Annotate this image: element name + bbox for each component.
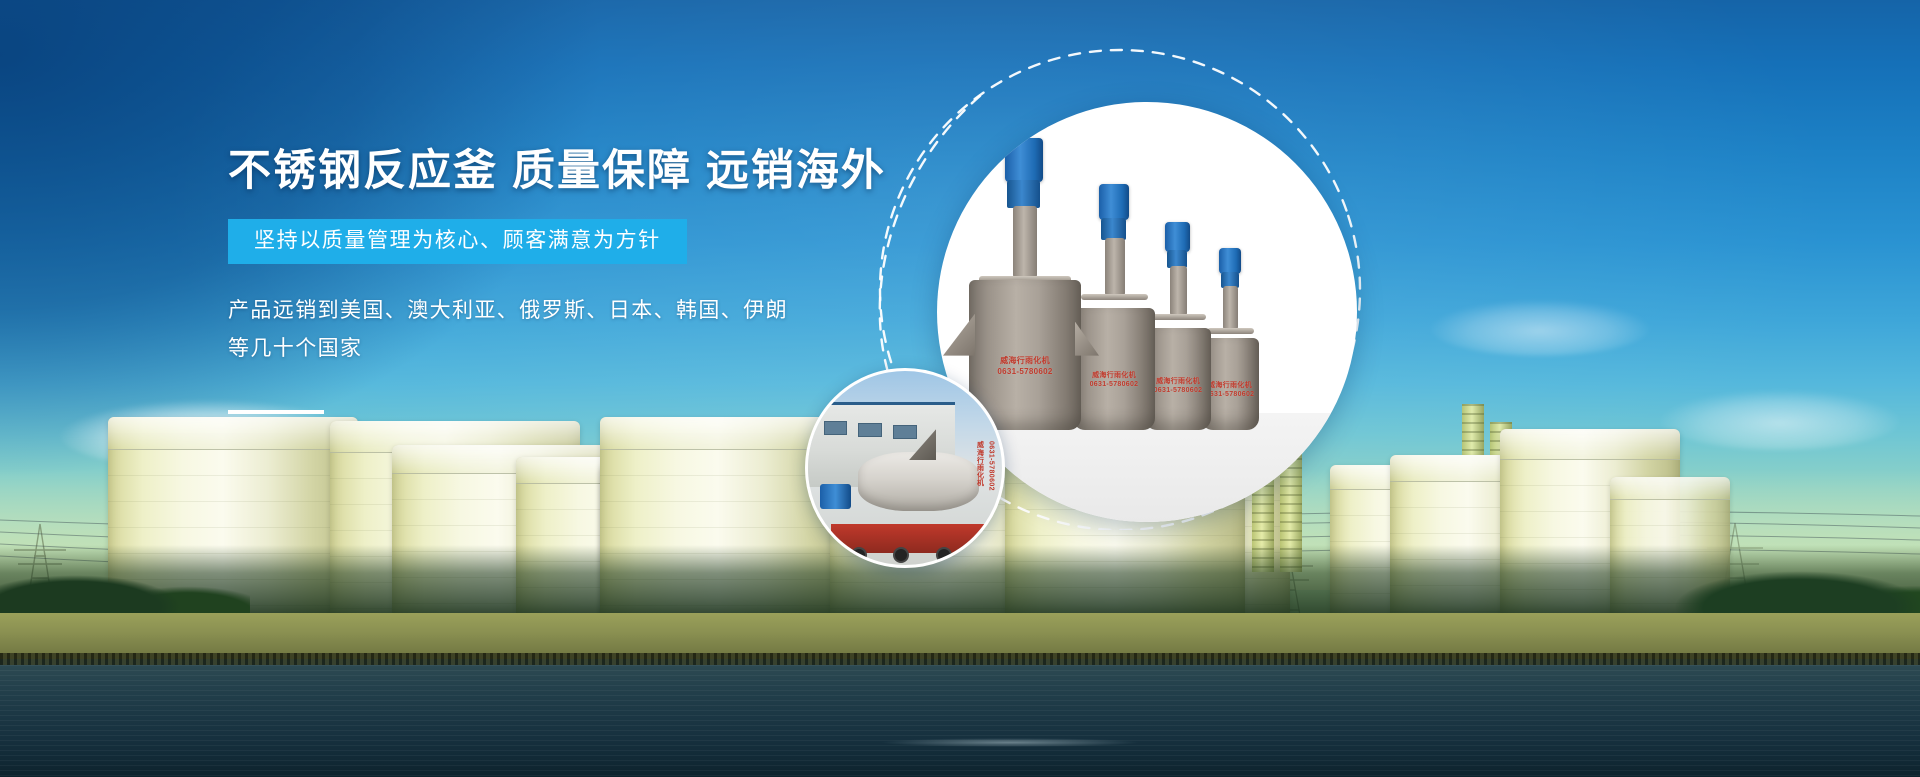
motor-icon (1005, 138, 1043, 182)
motor-icon (820, 484, 851, 509)
tank-brand-text: 威海行雨化机 (975, 441, 985, 487)
highlight-slogan-bar: 坚持以质量管理为核心、顾客满意为方针 (228, 219, 687, 264)
vessel-brand-text: 威海行雨化机 0631-5780602 (969, 356, 1081, 378)
vessel-body (969, 280, 1081, 430)
banner-root: 威海行雨化机 0631-5780602 威海行雨化机 0631-5780602 (0, 0, 1920, 777)
motor-gearbox-icon (1167, 250, 1187, 268)
reactor-vessel-primary: 威海行雨化机 0631-5780602 (969, 138, 1081, 430)
cloud-4 (1660, 390, 1900, 450)
cloud-3 (1430, 300, 1650, 356)
motor-gearbox-icon (1007, 180, 1040, 208)
tank-phone-text: 0631-5780602 (987, 441, 994, 491)
body-text-line-1: 产品远销到美国、澳大利亚、俄罗斯、日本、韩国、伊朗 (228, 292, 968, 330)
motor-icon (1099, 184, 1129, 220)
vessel-body (1073, 308, 1155, 430)
shed-window (858, 423, 881, 437)
vessel-neck (1170, 266, 1187, 316)
motor-gearbox-icon (1101, 218, 1126, 240)
motor-icon (1165, 222, 1190, 252)
water-surface (0, 665, 1920, 777)
reactor-vessel: 威海行雨化机 0631-5780602 (1073, 184, 1155, 430)
vessel-neck (1013, 206, 1037, 278)
truck-wheel (893, 547, 909, 563)
truck-wheel (851, 547, 867, 563)
highlight-slogan-text: 坚持以质量管理为核心、顾客满意为方针 (254, 229, 661, 252)
shed-window (893, 425, 916, 439)
truck-wheel (936, 547, 952, 563)
decorative-divider (228, 410, 324, 414)
motor-icon (1219, 248, 1241, 274)
vessel-neck (1223, 286, 1238, 330)
vessel-neck (1105, 238, 1125, 296)
page-title: 不锈钢反应釜 质量保障 远销海外 (228, 150, 968, 193)
water-glint (880, 738, 1140, 747)
shed-window (824, 421, 847, 435)
body-text-line-2: 等几十个国家 (228, 330, 968, 368)
vessel-brand-text: 威海行雨化机 0631-5780602 (1073, 371, 1155, 390)
horizontal-reactor-tank (858, 452, 978, 510)
banner-copy: 不锈钢反应釜 质量保障 远销海外 坚持以质量管理为核心、顾客满意为方针 产品远销… (228, 150, 968, 414)
